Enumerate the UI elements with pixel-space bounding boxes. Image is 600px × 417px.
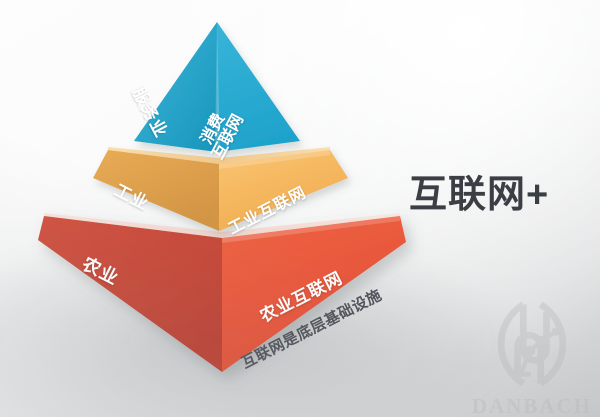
slide-canvas: 服务业 消费 互联网 工业 工业互联网 农业 农业互联网 互联网+ 互联网是底层… [0,0,600,417]
page-title: 互联网+ [409,163,549,218]
pyramid-tier-bottom[interactable] [38,213,406,372]
tier-middle-left-face[interactable] [93,150,219,231]
tier-top-right-face[interactable] [217,22,300,152]
tier-bottom-left-face[interactable] [38,216,222,372]
tier-top-left-face[interactable] [134,22,217,152]
pyramid-tier-middle[interactable] [93,147,348,231]
pyramid-tier-top[interactable] [134,22,300,152]
